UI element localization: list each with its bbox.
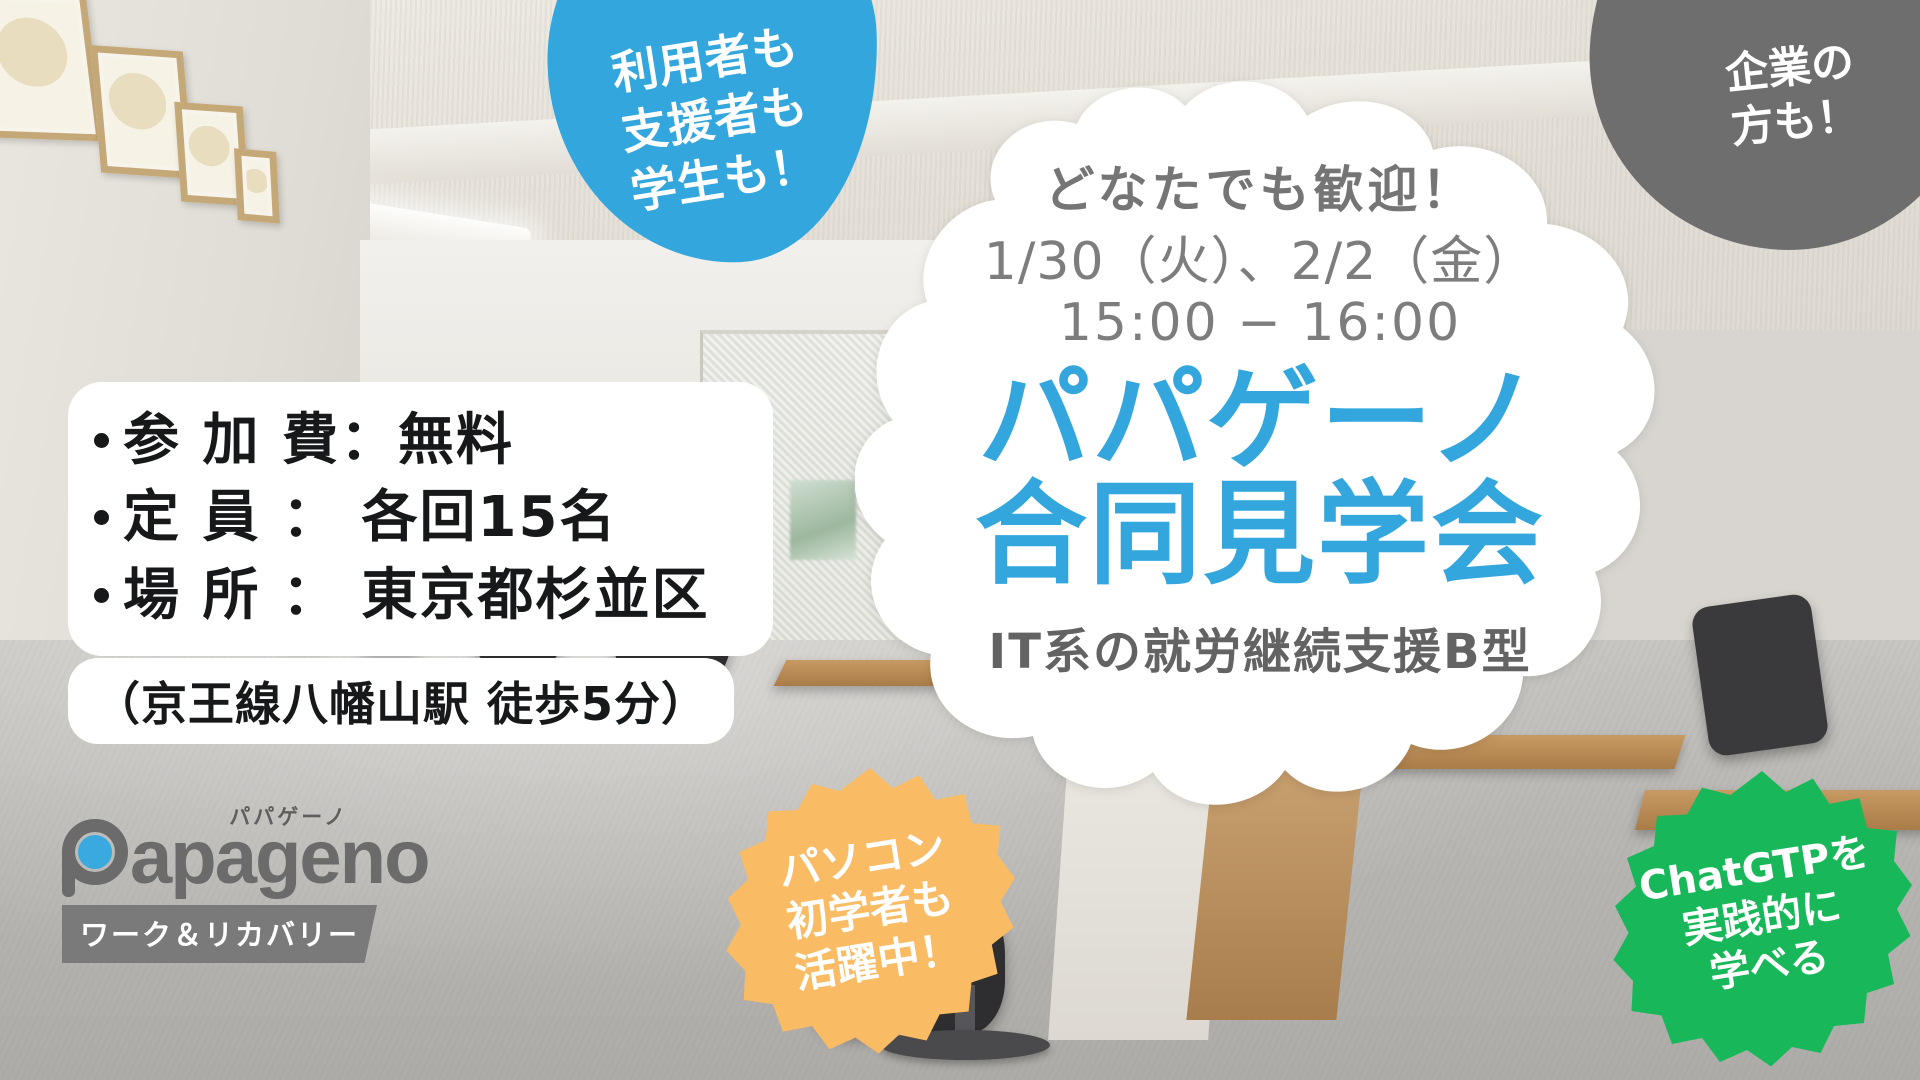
bullet-dot-icon [94, 510, 109, 525]
window-view [790, 480, 856, 560]
papageno-logo: パパゲーノ apageno ワーク＆リカバリー [62, 805, 392, 963]
detail-location: 場 所 ： 東京都杉並区 [123, 557, 710, 634]
page-title: パパゲーノ 合同見学会 [880, 363, 1640, 591]
title-line-1: パパゲーノ [880, 363, 1640, 477]
list-item: 参 加 費：無料 [94, 402, 747, 479]
badge-green-text: ChatGTPを 実践的に 学べる [1589, 737, 1920, 1080]
list-item: 定 員 ： 各回15名 [94, 479, 747, 556]
detail-access-note: （京王線八幡山駅 徒歩5分） [68, 658, 734, 744]
event-dates: 1/30（火）、2/2（金） [880, 232, 1640, 293]
detail-capacity: 定 員 ： 各回15名 [123, 479, 617, 556]
poster-root: 利用者も 支援者も 学生も！ 企業の 方も！ どなたでも歓迎！ 1/30（火）、… [0, 0, 1920, 1080]
bullet-dot-icon [94, 588, 109, 603]
main-content: どなたでも歓迎！ 1/30（火）、2/2（金） 15:00 − 16:00 パパ… [880, 150, 1640, 682]
badge-orange-text: パソコン 初学者も 活躍中！ [703, 739, 1036, 1080]
event-time: 15:00 − 16:00 [880, 293, 1640, 353]
wall-frame [0, 0, 104, 141]
logo-kana-label: パパゲーノ [229, 801, 348, 831]
logo-tagline: ワーク＆リカバリー [62, 905, 377, 963]
office-chair [1690, 592, 1830, 757]
wall-frame [234, 148, 280, 224]
badge-green-chatgpt: ChatGTPを 実践的に 学べる [1612, 758, 1912, 1078]
event-details-card: 参 加 費：無料 定 員 ： 各回15名 場 所 ： 東京都杉並区 [68, 382, 773, 656]
bullet-dot-icon [94, 433, 109, 448]
welcome-text: どなたでも歓迎！ [880, 150, 1640, 222]
title-line-2: 合同見学会 [880, 478, 1640, 592]
badge-orange-beginners: パソコン 初学者も 活躍中！ [725, 760, 1015, 1060]
logo-wordmark-text: apageno [130, 820, 429, 896]
list-item: 場 所 ： 東京都杉並区 [94, 557, 747, 634]
page-subtitle: IT系の就労継続支援B型 [880, 612, 1640, 682]
logo-p-mark-icon [62, 819, 134, 897]
event-details-list: 参 加 費：無料 定 員 ： 各回15名 場 所 ： 東京都杉並区 [94, 402, 747, 634]
detail-fee: 参 加 費：無料 [123, 402, 514, 479]
